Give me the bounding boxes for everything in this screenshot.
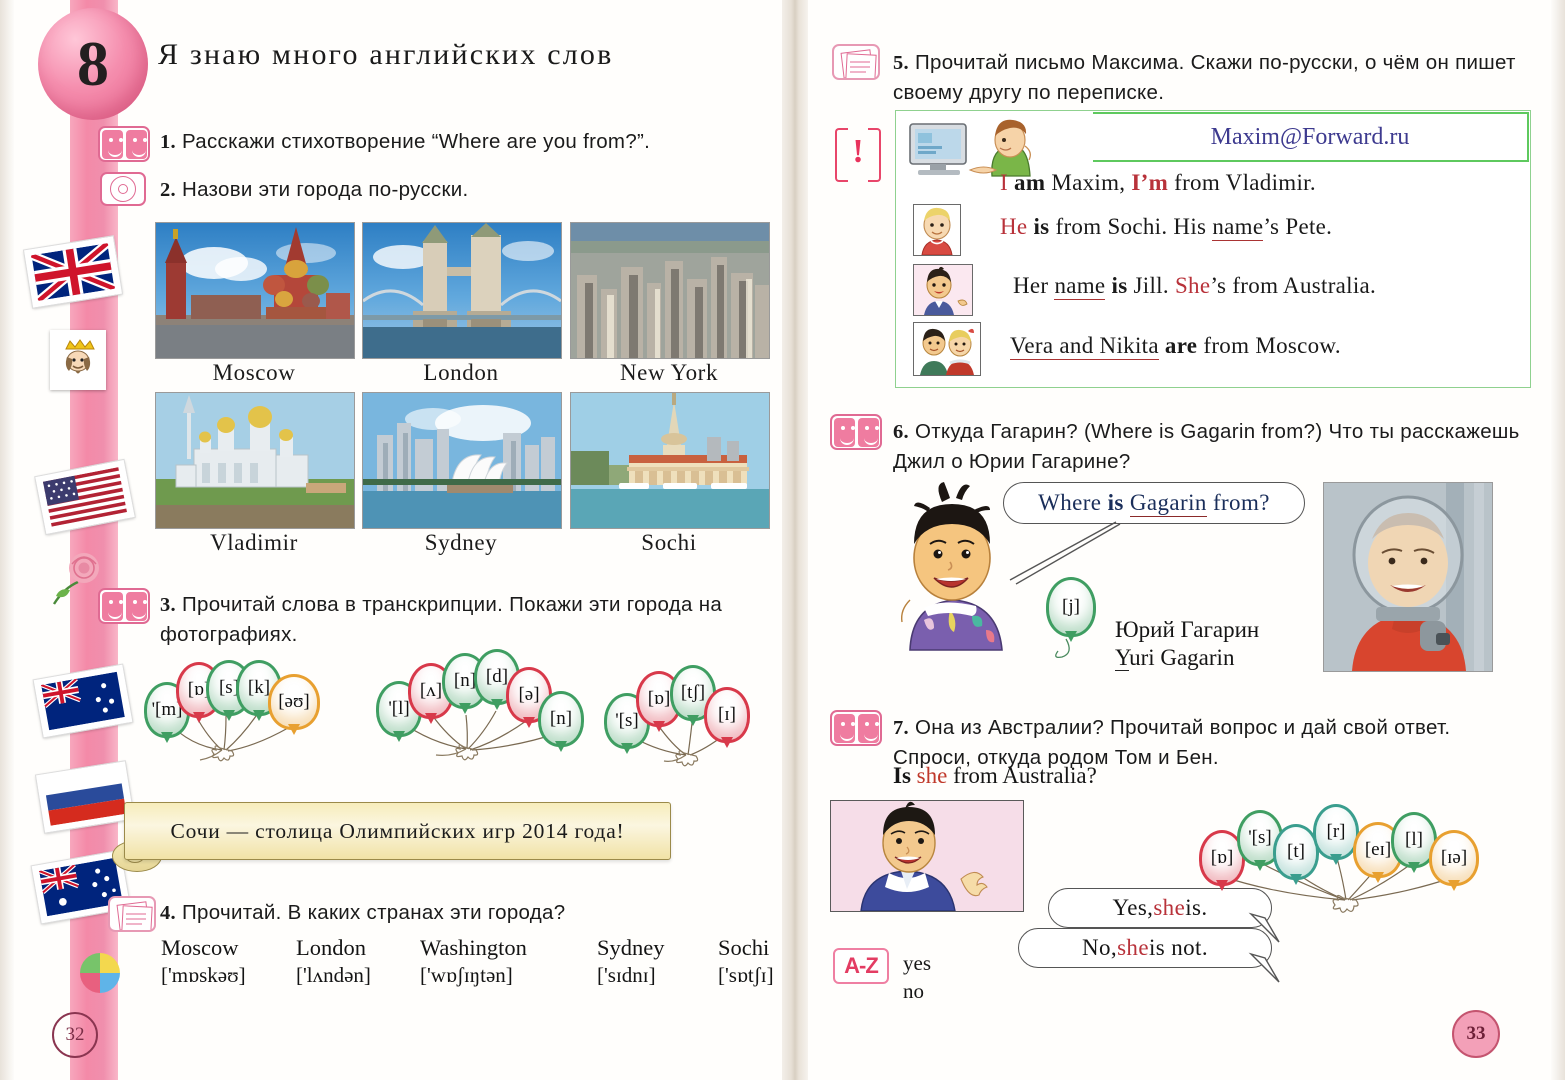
photo-caption-new-york: New York — [570, 360, 768, 386]
masks-icon-task6 — [830, 414, 882, 450]
transcription-sydney: ['sɪdnɪ] — [597, 963, 665, 988]
balloon-group-australia: [ɒ] '[s] [t] [r] [eɪ] [l] [ɪə] — [1195, 790, 1495, 915]
photo-caption-sydney: Sydney — [362, 530, 560, 556]
word-entry-moscow: Moscow ['mɒskəʊ] — [161, 935, 246, 988]
avatar-vera-nikita — [913, 322, 981, 376]
transcription-washington: ['wɒʃɪŋtən] — [420, 963, 527, 988]
photo-sydney — [362, 392, 562, 529]
task-4-text: Прочитай. В каких странах эти города? — [182, 901, 565, 924]
word-sydney: Sydney — [597, 935, 665, 961]
word-entry-washington: Washington ['wɒʃɪŋtən] — [420, 935, 527, 988]
gagarin-name-en-rest: uri Gagarin — [1129, 645, 1234, 670]
question-is-she-from-australia: Is she from Australia? — [893, 763, 1097, 789]
az-word-yes: yes — [903, 950, 931, 978]
usa-flag-sticker — [35, 460, 134, 534]
book-icon-task4 — [108, 896, 156, 932]
task-4: 4. Прочитай. В каких странах эти города? — [160, 898, 780, 928]
photo-moscow — [155, 222, 355, 359]
page-edge-left — [0, 0, 14, 1080]
word-entry-sydney: Sydney ['sɪdnɪ] — [597, 935, 665, 988]
avatar-jill — [913, 264, 973, 316]
a-z-icon: A-Z — [833, 948, 889, 984]
balloon-i: [ɪ] — [704, 687, 750, 743]
bubble-word-gagarin: Gagarin — [1130, 490, 1207, 517]
letter-line-2: He is from Sochi. His name’s Pete. — [1000, 214, 1332, 240]
word-sochi: Sochi — [718, 935, 774, 961]
task-1-number: 1. — [160, 131, 176, 153]
word-entry-sochi: Sochi ['sɒtʃɪ] — [718, 935, 774, 988]
task-5-text: Прочитай письмо Максима. Скажи по-русски… — [893, 51, 1516, 104]
word-moscow: Moscow — [161, 935, 246, 961]
photo-london — [362, 222, 562, 359]
photo-caption-vladimir: Vladimir — [155, 530, 353, 556]
photo-new-york — [570, 222, 770, 359]
bubble-word-from: from? — [1213, 490, 1270, 516]
word-washington: Washington — [420, 935, 527, 961]
page-title: Я знаю много английских слов — [158, 38, 613, 72]
letter-line-3: Her name is Jill. She’s from Australia. — [1013, 273, 1376, 299]
answer-yes-she: she — [1153, 895, 1185, 921]
masks-icon-task3 — [98, 588, 150, 624]
task-4-number: 4. — [160, 902, 176, 924]
balloon-group-london: '[l] [ʌ] [n] [d] [ə] [n] — [370, 645, 605, 770]
answer-bubble-no-tail — [1245, 952, 1295, 986]
balloon-group-moscow: '[m] [ɒ] [s] [k] [əʊ] — [130, 650, 340, 770]
unit-number: 8 — [38, 8, 148, 120]
email-address: Maxim@Forward.ru — [1093, 112, 1529, 162]
answer-yes-pre: Yes, — [1113, 895, 1154, 921]
cd-icon — [100, 172, 146, 206]
task-5: 5. Прочитай письмо Максима. Скажи по-рус… — [893, 48, 1533, 107]
photo-caption-sochi: Sochi — [570, 530, 768, 556]
word-entry-london: London ['lʌndən] — [296, 935, 371, 988]
photo-caption-moscow: Moscow — [155, 360, 353, 386]
photo-sochi — [570, 392, 770, 529]
masks-icon-task7 — [830, 710, 882, 746]
textbook-spread: 8 32 33 — [0, 0, 1565, 1080]
page-number-left: 32 — [52, 1012, 98, 1058]
task-7-text: Она из Австралии? Прочитай вопрос и дай … — [893, 716, 1450, 769]
task-3: 3. Прочитай слова в транскрипции. Покажи… — [160, 590, 785, 649]
balloon-a7-6: [ɪə] — [1429, 830, 1479, 886]
photo-gagarin — [1323, 482, 1493, 672]
word-london: London — [296, 935, 371, 961]
book-gutter — [782, 0, 808, 1080]
task-2: 2. Назови эти города по-русски. — [160, 175, 760, 205]
task-5-number: 5. — [893, 52, 909, 74]
girl-in-blue-illustration — [830, 800, 1024, 912]
russia-flag-sticker — [36, 761, 134, 832]
photo-vladimir — [155, 392, 355, 529]
balloon-ou: [əʊ] — [268, 674, 320, 730]
task-3-text: Прочитай слова в транскрипции. Покажи эт… — [160, 593, 722, 646]
task-6-number: 6. — [893, 421, 909, 443]
masks-icon — [98, 126, 150, 162]
task-1-text: Расскажи стихотворение “Where are you fr… — [182, 130, 650, 153]
answer-bubble-no: No, she is not. — [1018, 928, 1272, 968]
letter-line-4: Vera and Nikita are from Moscow. — [1010, 333, 1341, 359]
q-word-is: Is — [893, 763, 911, 788]
king-card-sticker — [50, 330, 106, 390]
task-7-number: 7. — [893, 717, 909, 739]
transcription-sochi: ['sɒtʃɪ] — [718, 963, 774, 988]
letter-line-1: I am Maxim, I’m from Vladimir. — [1000, 170, 1316, 196]
bubble-word-is: is — [1108, 490, 1124, 516]
task-2-number: 2. — [160, 179, 176, 201]
balloon-group-sochi: '[s] [ɒ] [tʃ] [ɪ] — [600, 655, 790, 770]
q-word-she: she — [917, 763, 948, 788]
task-1: 1. Расскажи стихотворение “Where are you… — [160, 127, 760, 157]
answer-no-pre: No, — [1082, 935, 1117, 961]
bubble-word-where: Where — [1038, 490, 1101, 516]
book-icon-task5 — [832, 44, 880, 80]
task-6: 6. Откуда Гагарин? (Where is Gagarin fro… — [893, 417, 1533, 476]
globe-ball-sticker — [80, 953, 120, 993]
gagarin-name-en: Yuri Gagarin — [1115, 645, 1234, 671]
transcription-london: ['lʌndən] — [296, 963, 371, 988]
az-word-no: no — [903, 978, 931, 1006]
page-edge-right — [1551, 0, 1565, 1080]
q-word-rest: from Australia? — [953, 763, 1097, 788]
gagarin-name-ru: Юрий Гагарин — [1115, 617, 1259, 643]
answer-no-post: is not. — [1149, 935, 1208, 961]
exclamation-icon: ! — [835, 128, 881, 178]
page-number-right: 33 — [1452, 1010, 1500, 1058]
task-2-text: Назови эти города по-русски. — [182, 178, 469, 201]
az-word-list: yes no — [903, 950, 931, 1005]
balloon-j: [j] — [1046, 577, 1096, 637]
sochi-banner: Сочи — столица Олимпийских игр 2014 года… — [124, 802, 671, 860]
avatar-pete — [913, 204, 961, 256]
task-3-number: 3. — [160, 594, 176, 616]
photo-caption-london: London — [362, 360, 560, 386]
answer-no-she: she — [1117, 935, 1149, 961]
transcription-moscow: ['mɒskəʊ] — [161, 963, 246, 988]
balloon-n2: [n] — [538, 691, 584, 747]
task-6-text: Откуда Гагарин? (Where is Gagarin from?)… — [893, 420, 1520, 473]
